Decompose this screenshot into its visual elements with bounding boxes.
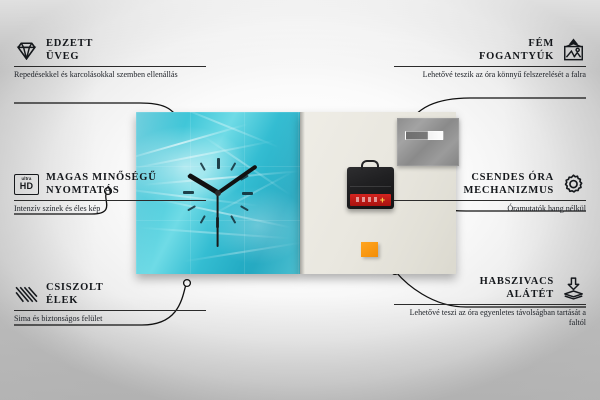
callout-foam-pad[interactable]: HABSZIVACS ALÁTÉT Lehetővé teszi az óra … <box>394 276 586 328</box>
mechanism-seam <box>350 186 391 187</box>
callout-desc: Lehetővé teszi az óra egyenletes távolsá… <box>394 308 586 328</box>
callout-tempered-glass[interactable]: EDZETT ÜVEG Repedésekkel és karcolásokka… <box>14 38 206 80</box>
mechanism-hanger-loop <box>361 160 379 170</box>
hands-center-cap <box>215 190 221 196</box>
callout-title-2: FOGANTYÚK <box>479 51 554 64</box>
polished-edge-icon <box>14 282 39 307</box>
callout-title-2: ÜVEG <box>46 51 93 64</box>
clock-mechanism: + <box>347 167 394 209</box>
second-hand <box>217 193 219 247</box>
callout-title: CSISZOLT <box>46 282 104 295</box>
callout-metal-handles[interactable]: FÉM FOGANTYÚK Lehetővé teszik az óra kön… <box>394 38 586 80</box>
callout-title: HABSZIVACS <box>480 276 554 289</box>
hanger-keyhole-slot <box>405 131 443 140</box>
callout-desc: Intenzív színek és éles kép <box>14 204 206 214</box>
callout-desc: Sima és biztonságos felület <box>14 314 206 324</box>
callout-polished-edges[interactable]: CSISZOLT ÉLEK Sima és biztonságos felüle… <box>14 282 206 324</box>
battery-label: + <box>350 194 391 206</box>
callout-title-2: ALÁTÉT <box>480 289 554 302</box>
callout-title: CSENDES ÓRA <box>463 172 554 185</box>
callout-desc: Lehetővé teszik az óra könnyű felszerelé… <box>394 70 586 80</box>
callout-title-2: ÉLEK <box>46 295 104 308</box>
callout-rule <box>394 200 586 201</box>
metal-hanger-plate <box>397 118 459 166</box>
minute-hand <box>217 164 258 194</box>
callout-desc: Óramutatók hang nélkül <box>394 204 586 214</box>
callout-rule <box>394 66 586 67</box>
callout-rule <box>14 66 206 67</box>
callout-high-quality-print[interactable]: ultra HD MAGAS MINŐSÉGŰ NYOMTATÁS Intenz… <box>14 172 206 214</box>
diamond-icon <box>14 38 39 63</box>
gear-icon <box>561 172 586 197</box>
callout-rule <box>14 200 206 201</box>
orange-foam-pad <box>361 242 378 257</box>
callout-desc: Repedésekkel és karcolásokkal szemben el… <box>14 70 206 80</box>
callout-title: FÉM <box>479 38 554 51</box>
hanging-frame-icon <box>561 38 586 63</box>
callout-rule <box>14 310 206 311</box>
callout-title-2: MECHANIZMUS <box>463 185 554 198</box>
callout-title: MAGAS MINŐSÉGŰ <box>46 172 157 185</box>
callout-title-2: NYOMTATÁS <box>46 185 157 198</box>
ultra-hd-bottom: HD <box>20 182 34 192</box>
ultra-hd-icon: ultra HD <box>14 174 39 195</box>
callout-rule <box>394 304 586 305</box>
foam-pad-icon <box>561 276 586 301</box>
callout-quiet-mechanism[interactable]: CSENDES ÓRA MECHANIZMUS Óramutatók hang … <box>394 172 586 214</box>
callout-title: EDZETT <box>46 38 93 51</box>
